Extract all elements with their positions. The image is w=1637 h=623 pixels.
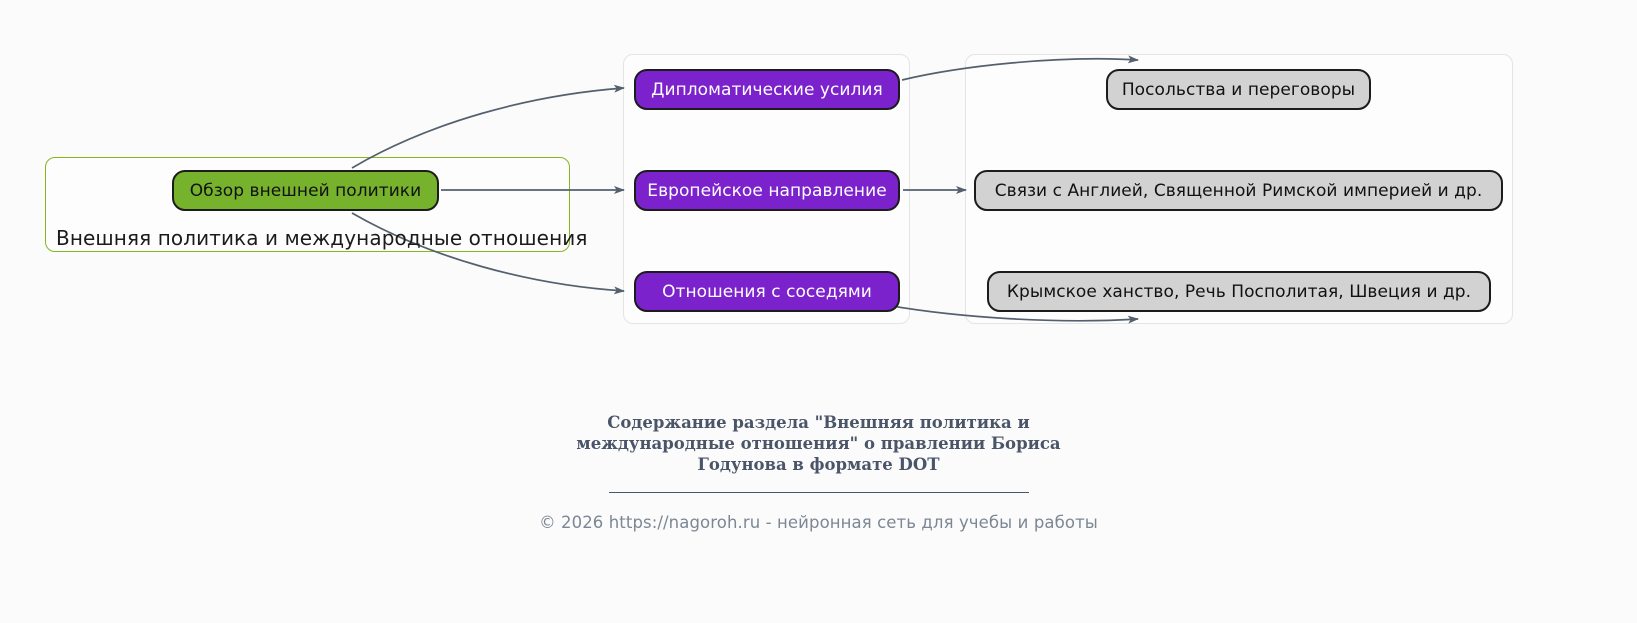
node-ties-england-hre[interactable]: Связи с Англией, Священной Римской импер…: [974, 170, 1503, 211]
node-diplomacy[interactable]: Дипломатические усилия: [634, 69, 900, 110]
node-crimea-commonwealth-sweden[interactable]: Крымское ханство, Речь Посполитая, Швеци…: [987, 271, 1491, 312]
caption-title: Содержание раздела "Внешняя политика и м…: [569, 412, 1069, 475]
caption-title-line-1: Содержание раздела "Внешняя политика и: [569, 412, 1069, 433]
caption-block: Содержание раздела "Внешняя политика и м…: [0, 412, 1637, 532]
caption-title-line-3: Годунова в формате DOT: [569, 454, 1069, 475]
node-embassies-negotiations[interactable]: Посольства и переговоры: [1106, 69, 1371, 110]
node-relations-with-neighbours[interactable]: Отношения с соседями: [634, 271, 900, 312]
caption-divider: [609, 492, 1029, 493]
cluster-root-label: Внешняя политика и международные отношен…: [56, 226, 561, 250]
node-overview[interactable]: Обзор внешней политики: [172, 170, 439, 211]
footer-copyright: © 2026 https://nagoroh.ru - нейронная се…: [0, 513, 1637, 532]
edge-overview-diplomacy: [352, 88, 624, 168]
node-european-direction[interactable]: Европейское направление: [634, 170, 900, 211]
caption-title-line-2: международные отношения" о правлении Бор…: [569, 433, 1069, 454]
